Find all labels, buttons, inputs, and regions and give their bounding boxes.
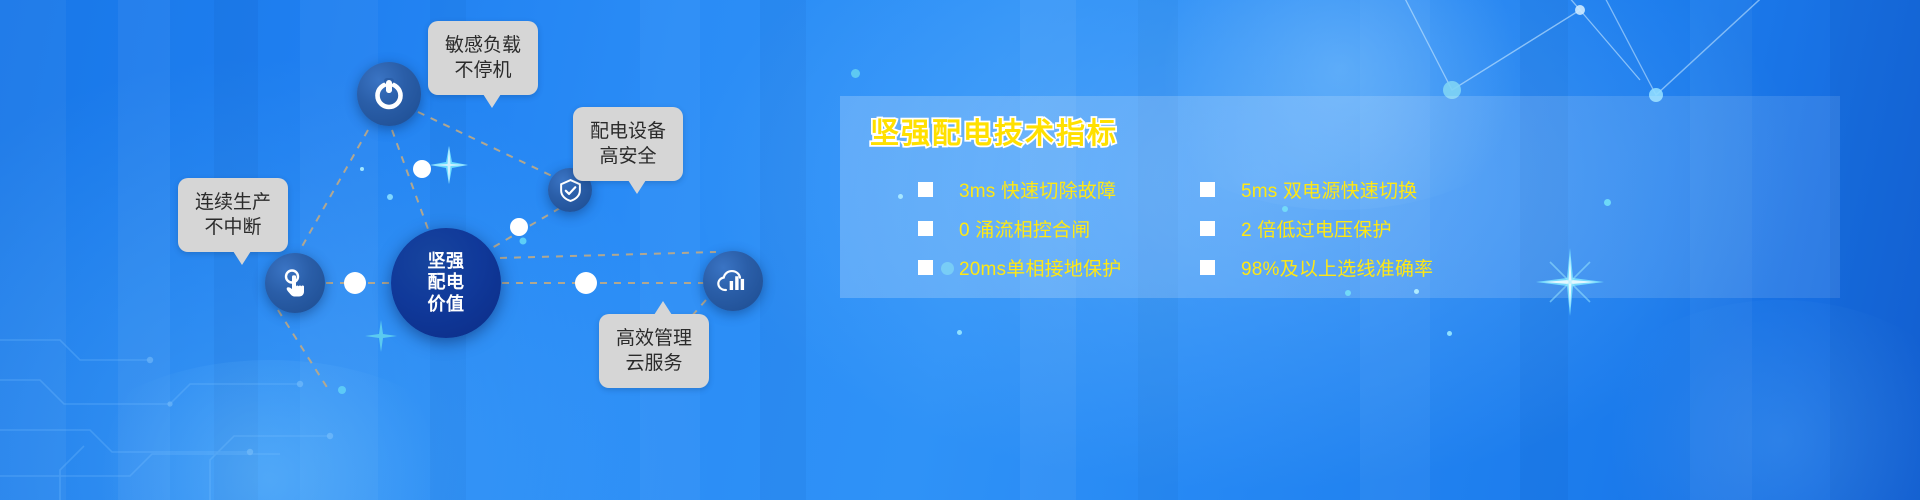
square-bullet-icon xyxy=(918,221,933,236)
spec-item: 3ms 快速切除故障 xyxy=(918,170,1200,209)
spec-item: 20ms单相接地保护 xyxy=(918,248,1200,287)
center-hub: 坚强 配电 价值 xyxy=(391,228,501,338)
callout-line: 敏感负载 xyxy=(445,33,521,58)
node-touch-continuous[interactable] xyxy=(265,253,325,313)
callout-line: 高安全 xyxy=(590,144,666,169)
spec-label: 3ms 快速切除故障 xyxy=(959,176,1116,203)
decor-dot xyxy=(1447,331,1452,336)
spec-label: 0 涌流相控合闸 xyxy=(959,215,1090,242)
callout-line: 云服务 xyxy=(616,351,692,376)
callout-line: 配电设备 xyxy=(590,119,666,144)
spec-label: 20ms单相接地保护 xyxy=(959,254,1121,281)
stripe xyxy=(1830,0,1920,500)
callout-line: 不停机 xyxy=(445,58,521,83)
square-bullet-icon xyxy=(1200,260,1215,275)
spec-label: 98%及以上选线准确率 xyxy=(1241,254,1433,281)
callout-equipment-safety: 配电设备 高安全 xyxy=(573,107,683,181)
square-bullet-icon xyxy=(1200,182,1215,197)
spec-item: 98%及以上选线准确率 xyxy=(1200,248,1482,287)
shield-check-icon xyxy=(558,178,583,203)
spec-item: 0 涌流相控合闸 xyxy=(918,209,1200,248)
square-bullet-icon xyxy=(1200,221,1215,236)
callout-line: 不中断 xyxy=(195,215,271,240)
promo-banner: 坚强 配电 价值 敏感负载 不停机 配电设备 高安全 连续生产 不中断 高效管理… xyxy=(0,0,1920,500)
spec-item: 2 倍低过电压保护 xyxy=(1200,209,1482,248)
tech-specs-panel: 坚强配电技术指标 3ms 快速切除故障 5ms 双电源快速切换 0 涌流相控合闸… xyxy=(840,96,1840,298)
callout-continuous-production: 连续生产 不中断 xyxy=(178,178,288,252)
decor-dot xyxy=(957,330,962,335)
callout-sensitive-load: 敏感负载 不停机 xyxy=(428,21,538,95)
spec-label: 5ms 双电源快速切换 xyxy=(1241,176,1417,203)
power-button-icon xyxy=(371,76,407,112)
cloud-bar-chart-icon xyxy=(715,265,751,297)
center-hub-line: 配电 xyxy=(428,272,465,293)
square-bullet-icon xyxy=(918,182,933,197)
callout-line: 连续生产 xyxy=(195,190,271,215)
decor-dot xyxy=(851,69,860,78)
tech-specs-list: 3ms 快速切除故障 5ms 双电源快速切换 0 涌流相控合闸 2 倍低过电压保… xyxy=(918,170,1482,287)
spec-label: 2 倍低过电压保护 xyxy=(1241,215,1392,242)
node-cloud-management[interactable] xyxy=(703,251,763,311)
spec-item: 5ms 双电源快速切换 xyxy=(1200,170,1482,209)
hand-touch-icon xyxy=(279,267,311,299)
node-power-button[interactable] xyxy=(357,62,421,126)
value-network-diagram: 坚强 配电 价值 敏感负载 不停机 配电设备 高安全 连续生产 不中断 高效管理… xyxy=(0,0,830,500)
center-hub-line: 价值 xyxy=(428,294,465,315)
callout-line: 高效管理 xyxy=(616,326,692,351)
panel-title: 坚强配电技术指标 xyxy=(870,110,1118,152)
square-bullet-icon xyxy=(918,260,933,275)
callout-cloud-service: 高效管理 云服务 xyxy=(599,314,709,388)
center-hub-line: 坚强 xyxy=(428,251,465,272)
glow-spot xyxy=(1580,300,1920,500)
